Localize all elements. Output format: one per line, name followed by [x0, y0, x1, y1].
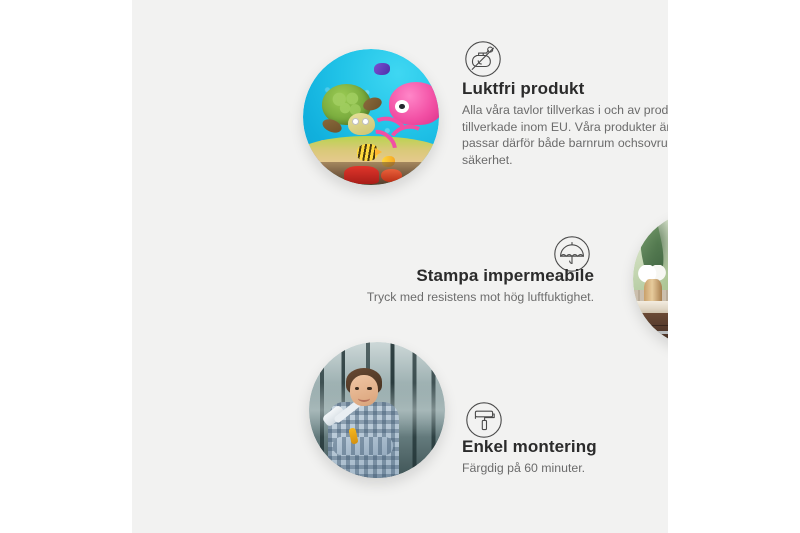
orange-seabed-object: [381, 169, 403, 183]
content-panel: Luktfri produkt Alla våra tavlor tillver…: [132, 0, 668, 533]
feature-text-assembly: Enkel montering Färgdig på 60 minuter.: [462, 437, 668, 477]
red-shipwreck-object: [344, 166, 379, 184]
feature-body-assembly: Färgdig på 60 minuter.: [462, 460, 668, 477]
vanity-drawer-handle: [650, 331, 668, 334]
vanity-drawer-seam: [639, 325, 668, 326]
feature-image-painter-woman-forest: [309, 342, 445, 478]
feature-body-waterproof: Tryck med resistens mot hög luftfuktighe…: [338, 289, 594, 306]
feature-image-underwater-kids-scene: [303, 49, 439, 185]
paint-roller-icon: [463, 399, 505, 441]
woman-folded-arms: [333, 437, 393, 455]
feature-title-waterproof: Stampa impermeabile: [338, 266, 594, 286]
underwater-scene-art: [303, 49, 439, 185]
feature-title-assembly: Enkel montering: [462, 437, 668, 457]
purple-fish: [374, 63, 390, 75]
no-fragrance-icon: [462, 38, 504, 80]
feature-image-bathroom-tropical-wallpaper: [633, 211, 668, 347]
bathroom-scene-art: [633, 211, 668, 347]
feature-text-odourless: Luktfri produkt Alla våra tavlor tillver…: [462, 79, 668, 168]
feature-title-odourless: Luktfri produkt: [462, 79, 668, 99]
yellow-striped-fish: [357, 144, 377, 160]
octopus-eye: [395, 100, 409, 113]
woman-eye: [367, 387, 371, 390]
painter-scene-art: [309, 342, 445, 478]
feature-body-odourless: Alla våra tavlor tillverkas i och av pro…: [462, 102, 668, 168]
wood-vanity-cabinet: [633, 313, 668, 347]
feature-text-waterproof: Stampa impermeabile Tryck med resistens …: [338, 266, 594, 306]
infographic-stage: Luktfri produkt Alla våra tavlor tillver…: [0, 0, 800, 533]
